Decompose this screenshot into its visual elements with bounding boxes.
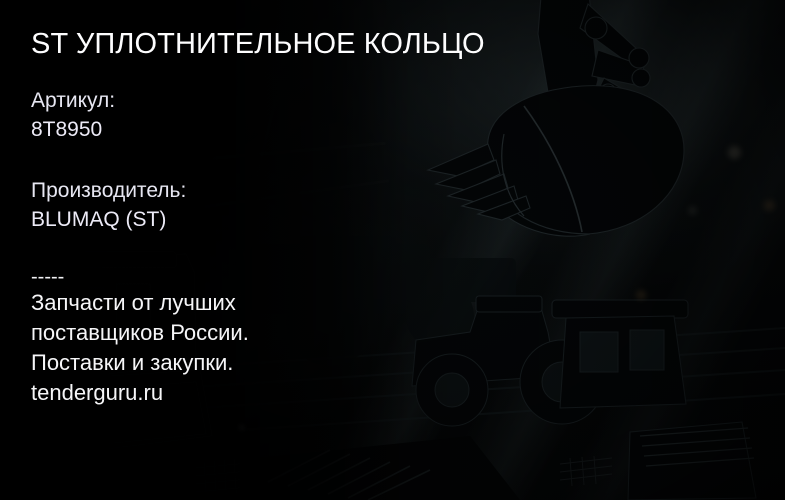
promo-line-3: Поставки и закупки. — [31, 348, 431, 378]
manufacturer-value: BLUMAQ (ST) — [31, 205, 186, 234]
manufacturer-label: Производитель: — [31, 176, 186, 205]
promo-line-1: Запчасти от лучших — [31, 288, 431, 318]
article-value: 8T8950 — [31, 115, 115, 144]
article-label: Артикул: — [31, 86, 115, 115]
promo-site-url: tenderguru.ru — [31, 378, 431, 408]
promo-line-2: поставщиков России. — [31, 318, 431, 348]
product-banner: ST УПЛОТНИТЕЛЬНОЕ КОЛЬЦО Артикул: 8T8950… — [0, 0, 785, 500]
promo-block: ----- Запчасти от лучших поставщиков Рос… — [31, 266, 431, 408]
promo-separator: ----- — [31, 266, 431, 288]
manufacturer-field: Производитель: BLUMAQ (ST) — [31, 176, 186, 234]
article-field: Артикул: 8T8950 — [31, 86, 115, 144]
banner-content: ST УПЛОТНИТЕЛЬНОЕ КОЛЬЦО Артикул: 8T8950… — [31, 0, 501, 500]
product-title: ST УПЛОТНИТЕЛЬНОЕ КОЛЬЦО — [31, 27, 485, 61]
